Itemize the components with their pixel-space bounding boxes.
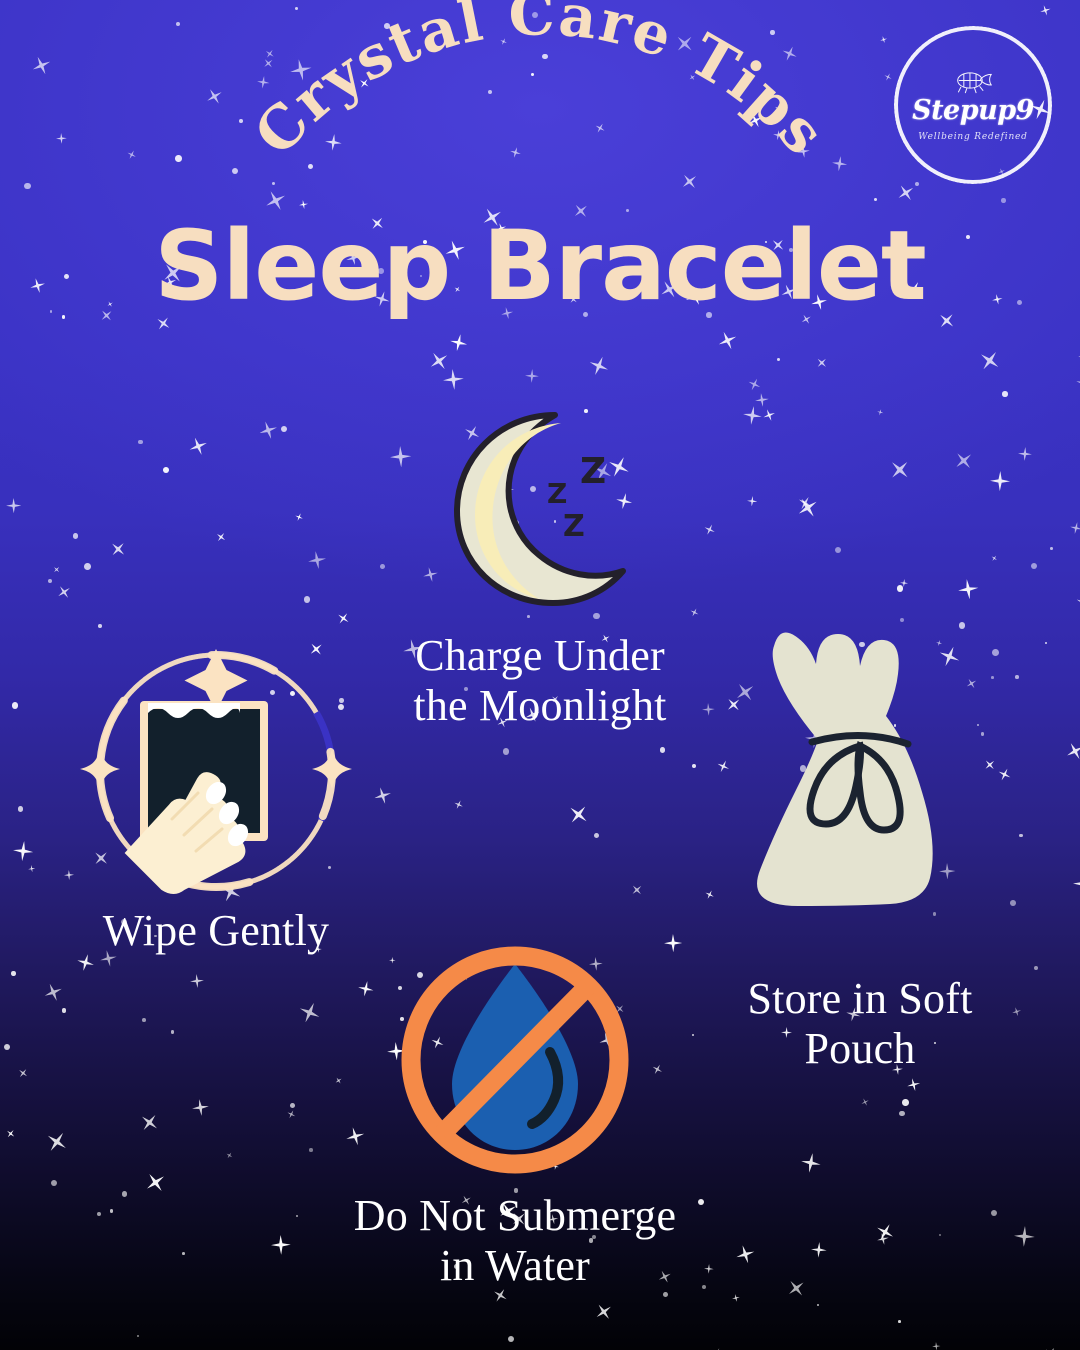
brand-logo-badge: Stepup9 Wellbeing Redefined bbox=[888, 20, 1058, 190]
sparkle-star bbox=[792, 492, 822, 522]
dot-star bbox=[835, 547, 842, 554]
dot-star bbox=[48, 579, 52, 583]
sparkle-star bbox=[294, 512, 305, 523]
sparkle-star bbox=[950, 447, 977, 474]
sparkle-star bbox=[859, 1097, 870, 1108]
dot-star bbox=[110, 1209, 113, 1212]
sparkle-star bbox=[754, 392, 770, 408]
dot-star bbox=[175, 155, 181, 161]
dot-star bbox=[18, 806, 24, 812]
dot-star bbox=[98, 624, 102, 628]
sparkle-star bbox=[27, 865, 36, 874]
dot-star bbox=[142, 1018, 146, 1022]
caption-line: Do Not Submerge bbox=[300, 1191, 730, 1241]
sparkle-star bbox=[224, 1151, 233, 1160]
sparkle-star bbox=[931, 1341, 940, 1350]
sparkle-star bbox=[1072, 872, 1080, 894]
dot-star bbox=[897, 585, 903, 591]
dot-star bbox=[290, 1103, 295, 1108]
sparkle-star bbox=[125, 149, 138, 162]
sparkle-star bbox=[989, 554, 998, 563]
dot-star bbox=[12, 702, 19, 709]
sparkle-star bbox=[876, 1232, 890, 1246]
dot-star bbox=[1034, 966, 1038, 970]
sparkle-star bbox=[449, 333, 470, 354]
sparkle-star bbox=[16, 1066, 30, 1080]
tip-wipe-gently: Wipe Gently bbox=[48, 638, 384, 956]
dot-star bbox=[182, 1252, 185, 1255]
sparkle-star bbox=[137, 1109, 164, 1136]
sparkle-star bbox=[257, 419, 280, 442]
sparkle-star bbox=[55, 582, 75, 602]
sparkle-star bbox=[425, 347, 453, 375]
caption-line: the Moonlight bbox=[325, 681, 755, 731]
page-title: Sleep Bracelet bbox=[0, 218, 1080, 314]
dot-star bbox=[171, 1030, 175, 1034]
sparkle-star bbox=[731, 1294, 740, 1303]
hand-wiping-cloth-icon bbox=[48, 638, 384, 898]
turtle-icon bbox=[950, 69, 996, 95]
sparkle-star bbox=[800, 1152, 823, 1175]
sparkle-star bbox=[106, 538, 129, 561]
dot-star bbox=[898, 1320, 901, 1323]
dot-star bbox=[73, 533, 79, 539]
dot-star bbox=[97, 1212, 101, 1216]
sparkle-star bbox=[271, 1234, 291, 1254]
dot-star bbox=[899, 1111, 905, 1117]
dot-star bbox=[902, 1099, 909, 1106]
dot-star bbox=[1031, 563, 1037, 569]
sparkle-star bbox=[876, 408, 884, 416]
sparkle-star bbox=[1013, 1226, 1035, 1248]
dot-star bbox=[62, 315, 65, 318]
dot-star bbox=[137, 1335, 139, 1337]
caption-line: Pouch bbox=[700, 1024, 1020, 1074]
dot-star bbox=[24, 183, 30, 189]
sparkle-star bbox=[813, 355, 829, 371]
tip-store-in-soft-pouch: Store in Soft Pouch bbox=[700, 612, 1020, 1074]
tip-charge-under-moonlight: Z Z Z Charge Under the Moonlight bbox=[325, 398, 755, 731]
dot-star bbox=[1050, 547, 1053, 550]
sparkle-star bbox=[592, 1299, 617, 1324]
dot-star bbox=[295, 7, 298, 10]
sparkle-star bbox=[1076, 348, 1080, 368]
sparkle-star bbox=[956, 578, 979, 601]
dot-star bbox=[1001, 198, 1006, 203]
sparkle-star bbox=[1043, 1345, 1059, 1350]
dot-star bbox=[817, 1304, 820, 1307]
dot-star bbox=[1045, 642, 1047, 644]
no-water-droplet-icon bbox=[300, 945, 730, 1175]
sparkle-star bbox=[214, 530, 228, 544]
dot-star bbox=[503, 748, 509, 754]
dot-star bbox=[770, 30, 774, 34]
sparkle-star bbox=[1074, 375, 1080, 392]
logo-wordmark: Stepup9 bbox=[912, 97, 1034, 124]
sparkle-star bbox=[1074, 593, 1080, 614]
sparkle-star bbox=[629, 881, 646, 898]
caption-line: Store in Soft bbox=[700, 974, 1020, 1024]
tip-caption: Charge Under the Moonlight bbox=[325, 631, 755, 731]
sparkle-star bbox=[990, 471, 1011, 492]
tip-do-not-submerge: Do Not Submerge in Water bbox=[300, 945, 730, 1291]
sparkle-star bbox=[811, 1242, 828, 1259]
sparkle-star bbox=[187, 434, 211, 458]
dot-star bbox=[1002, 391, 1007, 396]
sparkle-star bbox=[746, 376, 763, 393]
dot-star bbox=[122, 1191, 128, 1197]
sparkle-star bbox=[42, 980, 66, 1004]
sparkle-star bbox=[715, 328, 740, 353]
dot-star bbox=[508, 1336, 514, 1342]
dot-star bbox=[296, 1215, 298, 1217]
dot-star bbox=[4, 1044, 10, 1050]
sparkle-star bbox=[442, 368, 465, 391]
dot-star bbox=[777, 358, 780, 361]
sparkle-star bbox=[1039, 4, 1053, 18]
dot-star bbox=[163, 467, 169, 473]
sparkle-star bbox=[12, 840, 34, 862]
dot-star bbox=[62, 1008, 66, 1012]
dot-star bbox=[176, 22, 180, 26]
drawstring-pouch-icon bbox=[700, 612, 1020, 960]
sparkle-star bbox=[586, 353, 612, 379]
dot-star bbox=[692, 764, 696, 768]
sparkle-star bbox=[285, 1109, 297, 1121]
sparkle-star bbox=[885, 454, 915, 484]
sparkle-star bbox=[56, 133, 67, 144]
sparkle-star bbox=[1063, 738, 1080, 763]
sparkle-star bbox=[900, 579, 909, 588]
sparkle-star bbox=[6, 498, 22, 514]
sparkle-star bbox=[873, 1220, 898, 1245]
eyebrow-title: Crystal Care Tips bbox=[230, 52, 850, 222]
dot-star bbox=[939, 1234, 941, 1236]
sparkle-star bbox=[4, 1127, 17, 1140]
dot-star bbox=[11, 971, 15, 975]
svg-text:Z: Z bbox=[547, 477, 567, 510]
sparkle-star bbox=[191, 1098, 210, 1117]
logo-tagline: Wellbeing Redefined bbox=[918, 132, 1027, 142]
sparkle-star bbox=[783, 1275, 809, 1301]
dot-star bbox=[991, 1210, 997, 1216]
dot-star bbox=[84, 563, 91, 570]
dot-star bbox=[594, 833, 599, 838]
caption-line: Charge Under bbox=[325, 631, 755, 681]
dot-star bbox=[281, 426, 287, 432]
dot-star bbox=[874, 198, 877, 201]
svg-text:Crystal Care Tips: Crystal Care Tips bbox=[241, 0, 839, 168]
dot-star bbox=[51, 1180, 57, 1186]
sparkle-star bbox=[974, 346, 1004, 376]
sparkle-star bbox=[906, 1077, 922, 1093]
sparkle-star bbox=[796, 493, 815, 512]
sparkle-star bbox=[203, 85, 226, 108]
svg-text:Z: Z bbox=[563, 509, 585, 544]
infographic-poster: Stepup9 Wellbeing Redefined Crystal Care… bbox=[0, 0, 1080, 1350]
dot-star bbox=[663, 1292, 668, 1297]
sparkle-star bbox=[761, 407, 777, 423]
sparkle-star bbox=[564, 799, 594, 829]
sparkle-star bbox=[453, 798, 465, 810]
dot-star bbox=[660, 747, 665, 752]
crescent-moon-zzz-icon: Z Z Z bbox=[325, 398, 755, 613]
sparkle-star bbox=[141, 1168, 170, 1197]
sparkle-star bbox=[52, 564, 62, 574]
dot-star bbox=[138, 440, 143, 445]
tip-caption: Store in Soft Pouch bbox=[700, 974, 1020, 1074]
sparkle-star bbox=[190, 973, 205, 988]
sparkle-star bbox=[29, 53, 54, 78]
sparkle-star bbox=[42, 1127, 72, 1157]
sparkle-star bbox=[734, 1243, 757, 1266]
tip-caption: Do Not Submerge in Water bbox=[300, 1191, 730, 1291]
svg-text:Z: Z bbox=[580, 451, 606, 492]
sparkle-star bbox=[1018, 447, 1033, 462]
caption-line: in Water bbox=[300, 1241, 730, 1291]
sparkle-star bbox=[1069, 521, 1080, 535]
dot-star bbox=[304, 596, 311, 603]
sparkle-star bbox=[525, 369, 540, 384]
